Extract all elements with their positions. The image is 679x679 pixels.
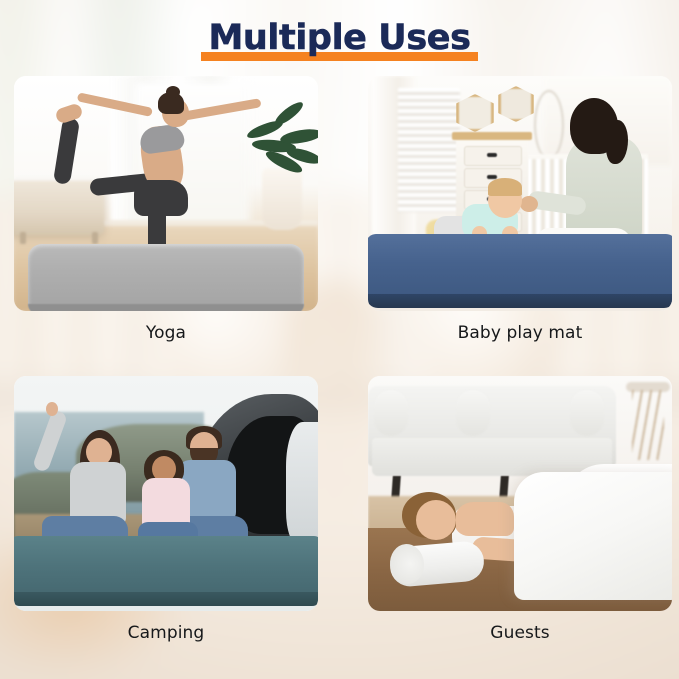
nursery-window-blinds [398, 88, 460, 212]
scene-caption-baby-play-mat: Baby play mat [368, 323, 672, 343]
scene-caption-yoga: Yoga [14, 323, 318, 343]
woman-pointing-hand [46, 402, 58, 416]
page-title: Multiple Uses [208, 14, 470, 62]
camping-tent-flap [286, 422, 318, 546]
yoga-ottoman-leg [92, 232, 98, 244]
scene-grid: Yoga [0, 70, 679, 670]
sofa-bolster-cushion [456, 390, 490, 436]
sofa-bolster-cushion [570, 390, 604, 436]
mother-hand [520, 196, 538, 212]
nursery-cord [534, 90, 564, 160]
multiple-uses-poster: Multiple Uses [0, 0, 679, 679]
duvet [514, 472, 672, 600]
scene-guests: Guests [368, 376, 672, 643]
side-table [626, 382, 670, 460]
scene-image-guests [368, 376, 672, 611]
mother-hair [570, 98, 618, 154]
yoga-mat [28, 244, 304, 311]
side-table-legs [632, 390, 664, 460]
sleeper-head [416, 500, 456, 540]
yoga-hair-bun [166, 86, 180, 98]
scene-image-camping [14, 376, 318, 611]
scene-image-yoga [14, 76, 318, 311]
scene-yoga: Yoga [14, 76, 318, 343]
scene-caption-guests: Guests [368, 623, 672, 643]
sleeper-shoulder [454, 502, 514, 536]
nursery-dresser-top [452, 132, 532, 140]
scene-caption-camping: Camping [14, 623, 318, 643]
scene-image-baby-play-mat [368, 76, 672, 311]
scene-baby-play-mat: Baby play mat [368, 76, 672, 343]
woman-body [70, 462, 126, 524]
camping-mat-edge [14, 592, 318, 606]
scene-camping: Camping [14, 376, 318, 643]
yoga-planter [262, 168, 302, 230]
yoga-mat-edge [28, 304, 304, 311]
yoga-ottoman-leg [20, 232, 26, 244]
baby-play-mat-edge [368, 294, 672, 308]
poster-title-block: Multiple Uses [0, 14, 679, 66]
sofa-seat [372, 438, 612, 476]
sofa-bolster-cushion [374, 390, 408, 436]
drawer-knob-icon [487, 153, 497, 157]
baby-hair [488, 178, 522, 196]
